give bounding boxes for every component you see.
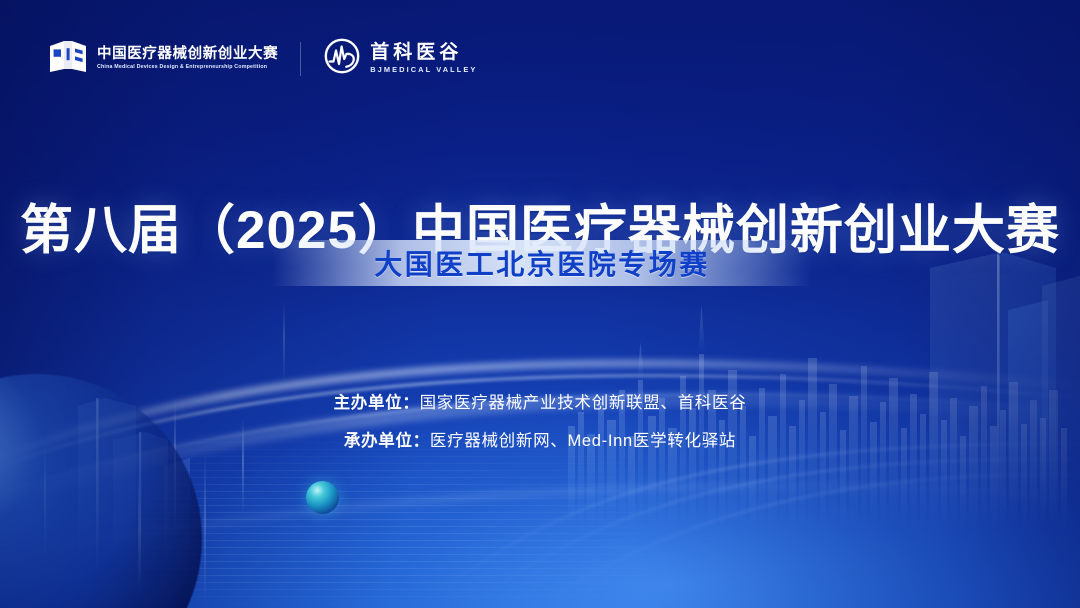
- logo-cmdc-text: 中国医疗器械创新创业大赛 China Medical Devices Desig…: [97, 47, 278, 70]
- organizer-label-coorg: 承办单位：: [344, 432, 430, 450]
- organizer-value-coorg: 医疗器械创新网、Med-Inn医学转化驿站: [430, 432, 736, 450]
- logo-divider: [300, 42, 301, 76]
- teal-sphere: [306, 481, 339, 514]
- organizer-line-host: 主办单位：国家医疗器械产业技术创新联盟、首科医谷: [0, 389, 1080, 413]
- logo-cmdc-cn: 中国医疗器械创新创业大赛: [97, 47, 278, 62]
- logo-bjmv-en: BJMEDICAL VALLEY: [370, 66, 477, 73]
- header-logo-group: 中国医疗器械创新创业大赛 China Medical Devices Desig…: [48, 36, 477, 81]
- organizer-block: 主办单位：国家医疗器械产业技术创新联盟、首科医谷 承办单位：医疗器械创新网、Me…: [0, 389, 1080, 451]
- organizer-value-host: 国家医疗器械产业技术创新联盟、首科医谷: [420, 394, 747, 412]
- organizer-label-host: 主办单位：: [334, 394, 420, 412]
- poster-canvas: 中国医疗器械创新创业大赛 China Medical Devices Desig…: [0, 0, 1080, 608]
- organizer-line-coorg: 承办单位：医疗器械创新网、Med-Inn医学转化驿站: [0, 427, 1080, 451]
- logo-bjmedical-valley: 首科医谷 BJMEDICAL VALLEY: [323, 37, 477, 80]
- logo-bjmv-text: 首科医谷 BJMEDICAL VALLEY: [370, 43, 477, 73]
- logo-bjmv-cn: 首科医谷: [370, 43, 477, 62]
- pulse-circle-logo-icon: [323, 37, 361, 80]
- logo-cmdc: 中国医疗器械创新创业大赛 China Medical Devices Desig…: [48, 36, 278, 81]
- logo-cmdc-en: China Medical Devices Design & Entrepren…: [97, 65, 278, 70]
- open-door-logo-icon: [48, 36, 88, 81]
- subtitle-text: 大国医工北京医院专场赛: [374, 243, 710, 283]
- subtitle-banner: 大国医工北京医院专场赛: [272, 240, 812, 286]
